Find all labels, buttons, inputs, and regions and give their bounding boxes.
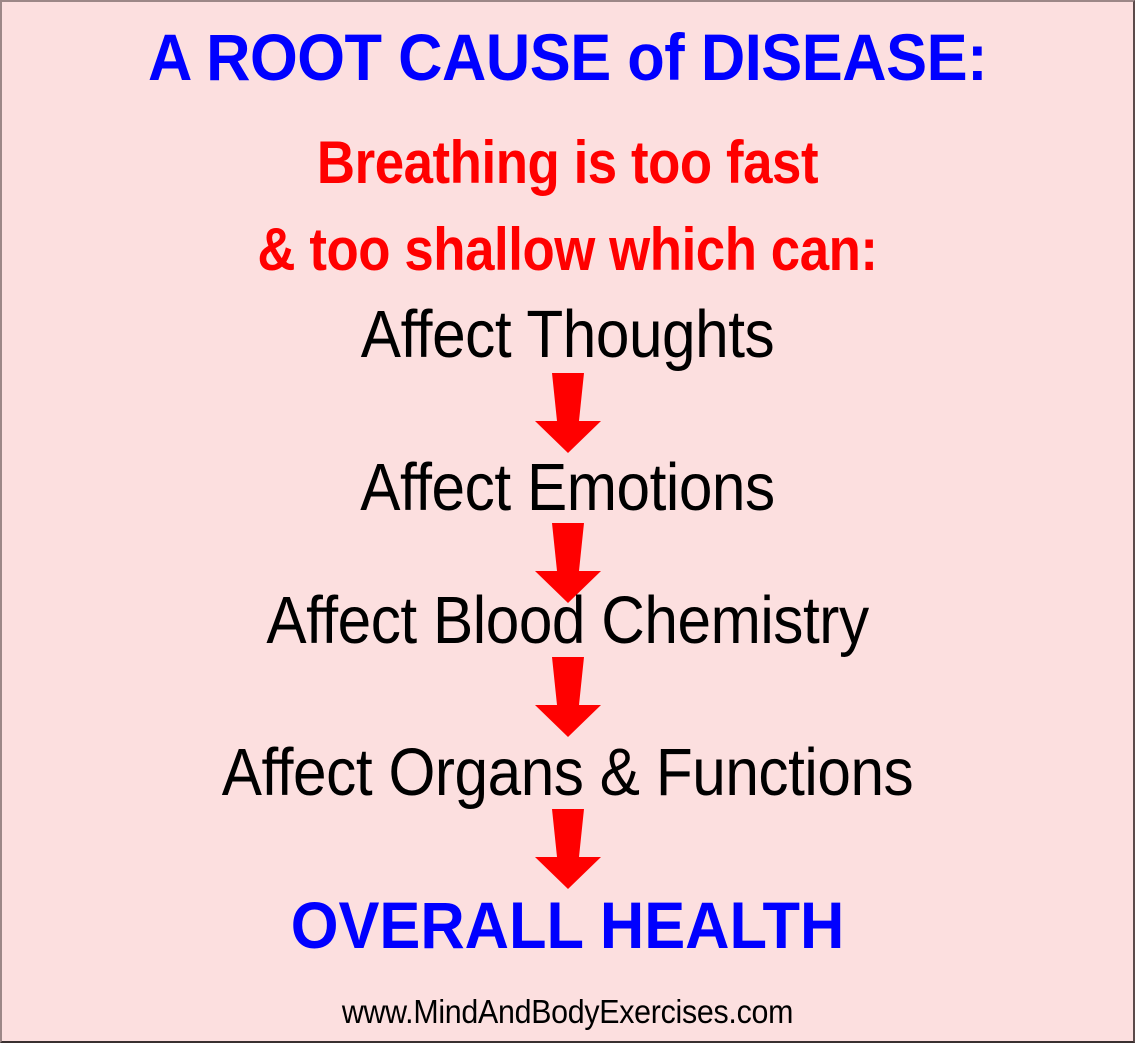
flow-outcome-overall-health: OVERALL HEALTH [42,892,1094,958]
down-arrow-icon-4 [535,809,601,889]
down-arrow-icon-1 [535,373,601,453]
infographic-poster: A ROOT CAUSE of DISEASE: Breathing is to… [0,0,1135,1043]
flow-step-affect-blood-chemistry: Affect Blood Chemistry [59,587,1077,654]
flow-step-affect-organs-and-functions: Affect Organs & Functions [59,739,1077,806]
subtitle-line-1: Breathing is too fast [70,133,1065,193]
flow-step-affect-emotions: Affect Emotions [59,454,1077,521]
footer-website-url: www.MindAndBodyExercises.com [47,995,1088,1028]
subtitle-line-2: & too shallow which can: [70,220,1065,280]
page-title: A ROOT CAUSE of DISEASE: [42,24,1094,90]
flow-step-affect-thoughts: Affect Thoughts [59,301,1077,368]
down-arrow-icon-3 [535,657,601,737]
